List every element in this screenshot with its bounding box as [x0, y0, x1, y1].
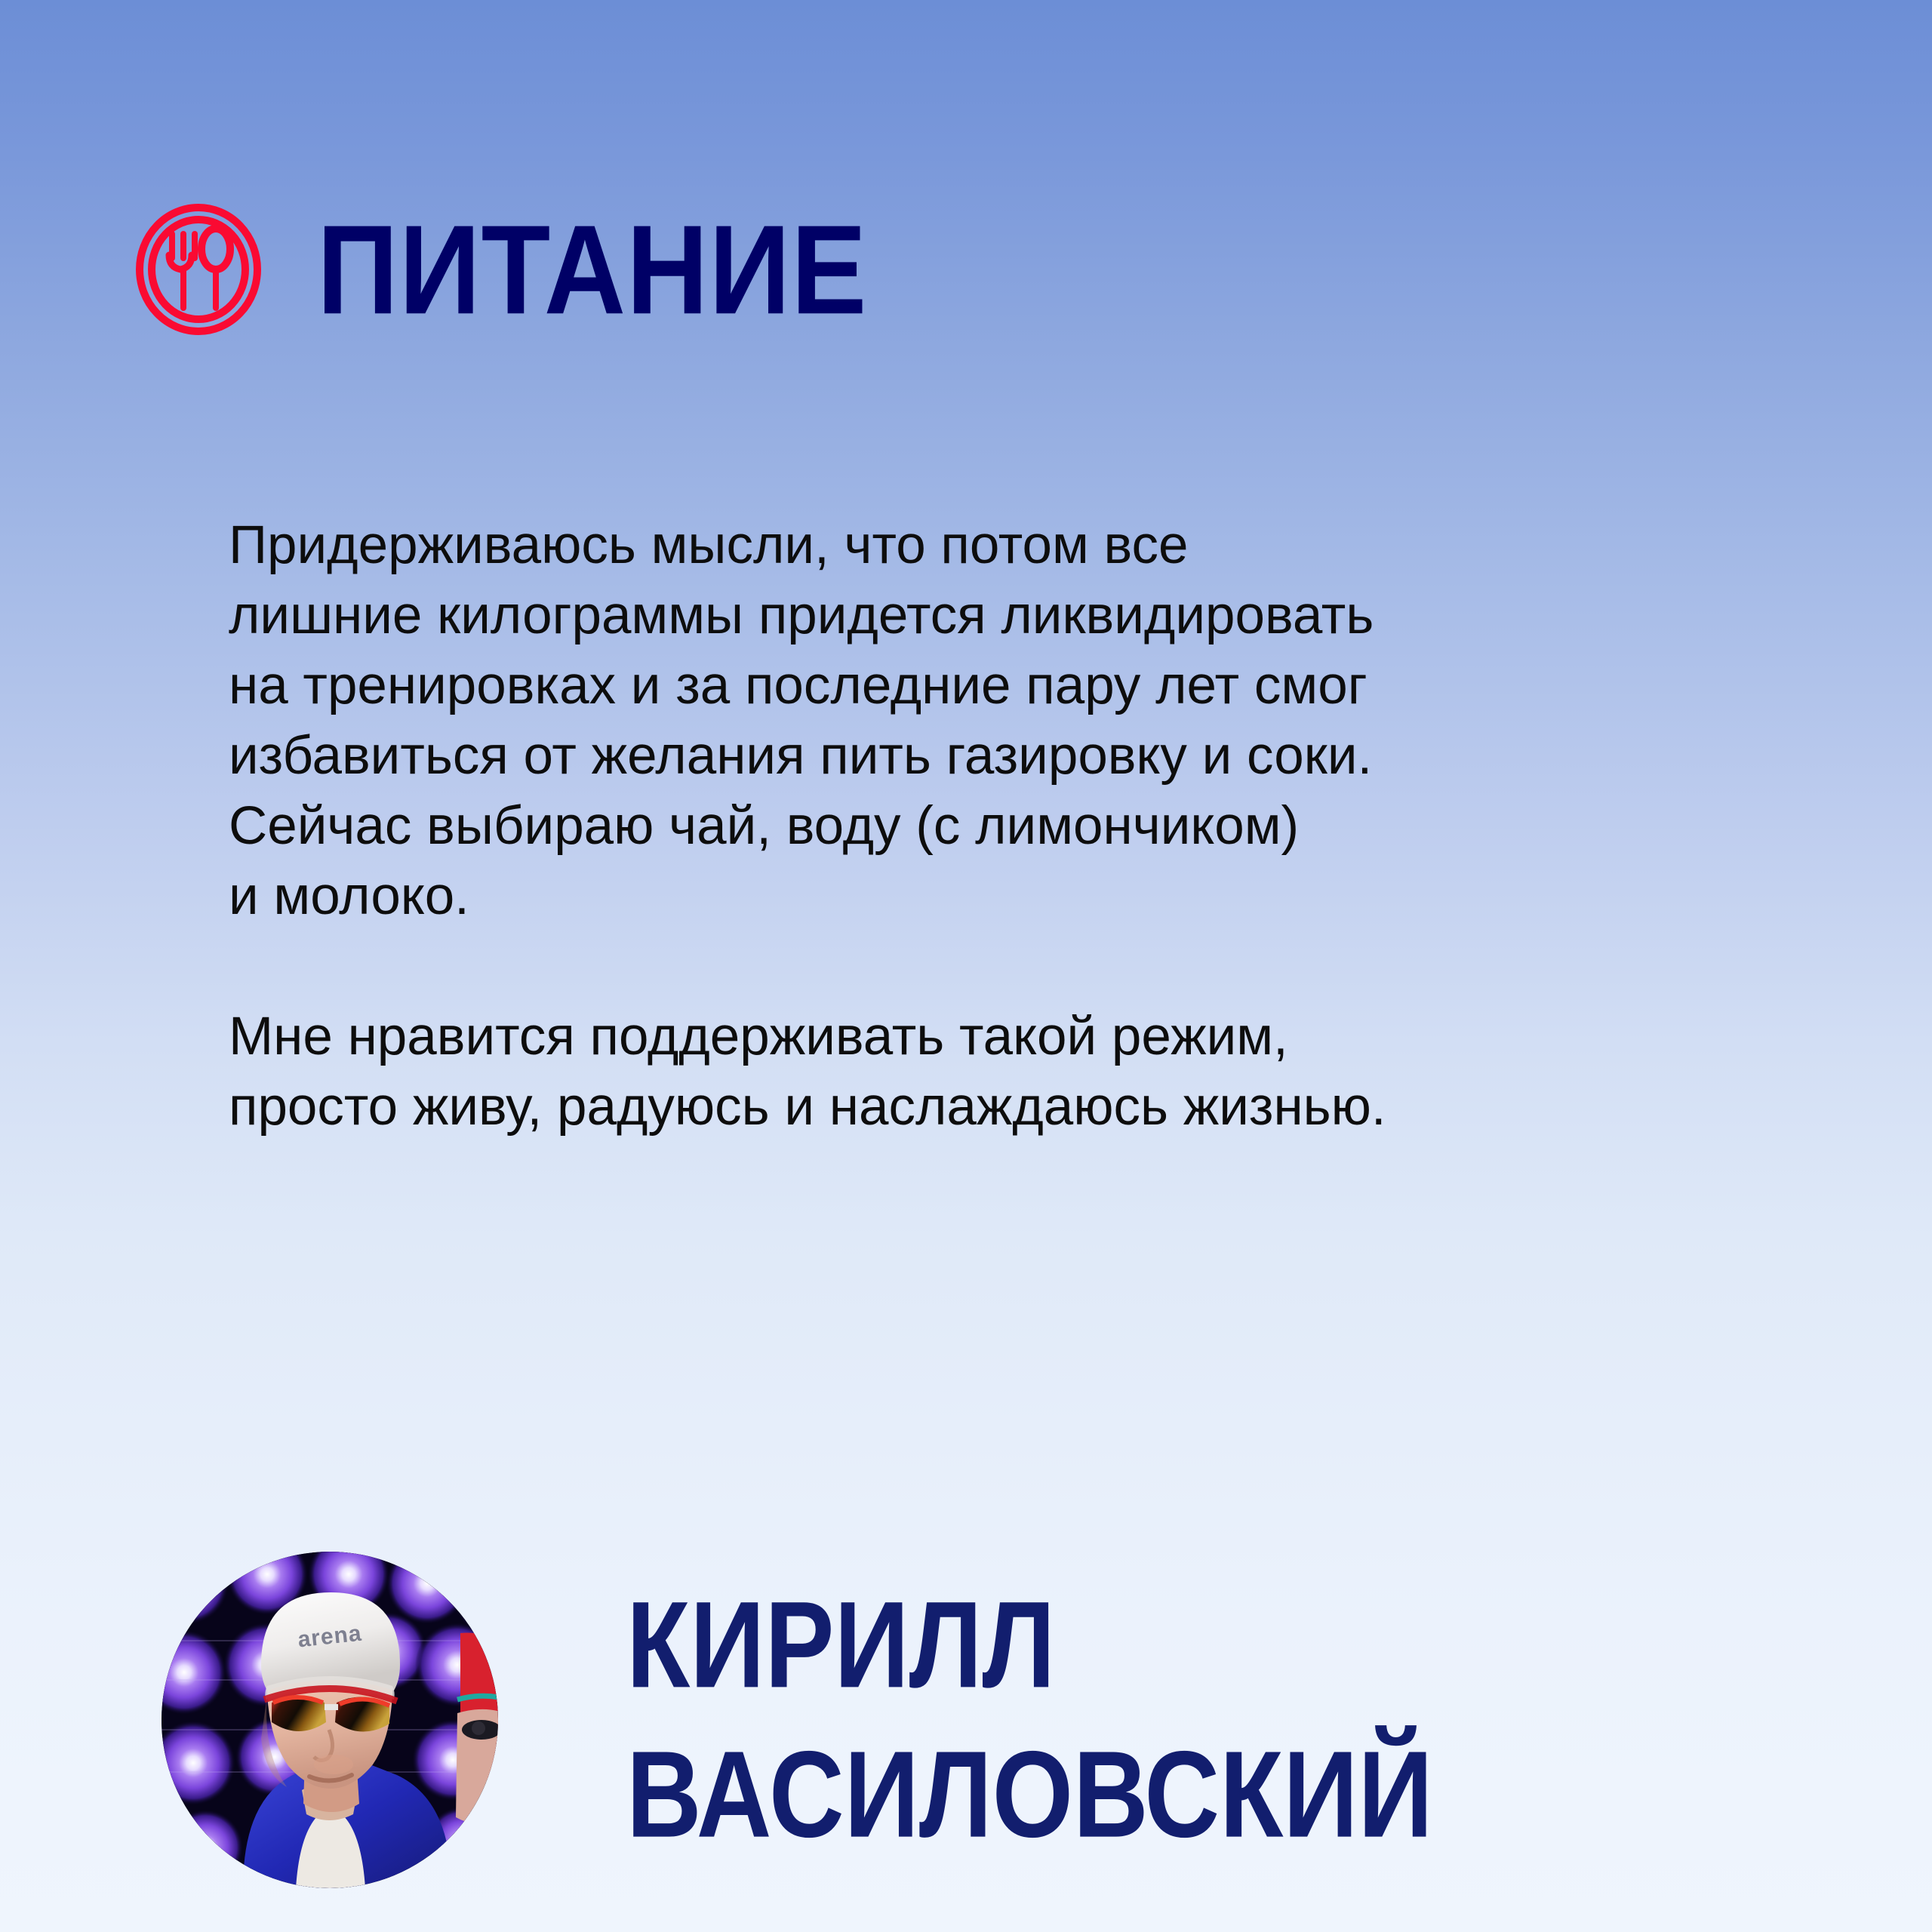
swimmer-portrait-image: arena	[162, 1552, 498, 1888]
card-header: ПИТАНИЕ	[134, 198, 867, 341]
card-footer: arena	[162, 1552, 1822, 1888]
person-name-line-1: КИРИЛЛ	[626, 1571, 1433, 1720]
page-title: ПИТАНИЕ	[317, 206, 867, 333]
avatar: arena	[162, 1552, 498, 1888]
person-name-line-2: ВАСИЛОВСКИЙ	[626, 1720, 1433, 1869]
quote-paragraph-1: Придерживаюсь мысли, что потом все лишни…	[229, 510, 1776, 931]
quote-body: Придерживаюсь мысли, что потом все лишни…	[229, 510, 1776, 1142]
quote-paragraph-2: Мне нравится поддерживать такой режим, п…	[229, 1001, 1776, 1142]
nutrition-quote-card: ПИТАНИЕ Придерживаюсь мысли, что потом в…	[0, 0, 1932, 1932]
person-name: КИРИЛЛ ВАСИЛОВСКИЙ	[626, 1571, 1433, 1869]
plate-fork-spoon-icon	[134, 202, 263, 337]
paragraph-spacer	[229, 931, 1776, 1001]
